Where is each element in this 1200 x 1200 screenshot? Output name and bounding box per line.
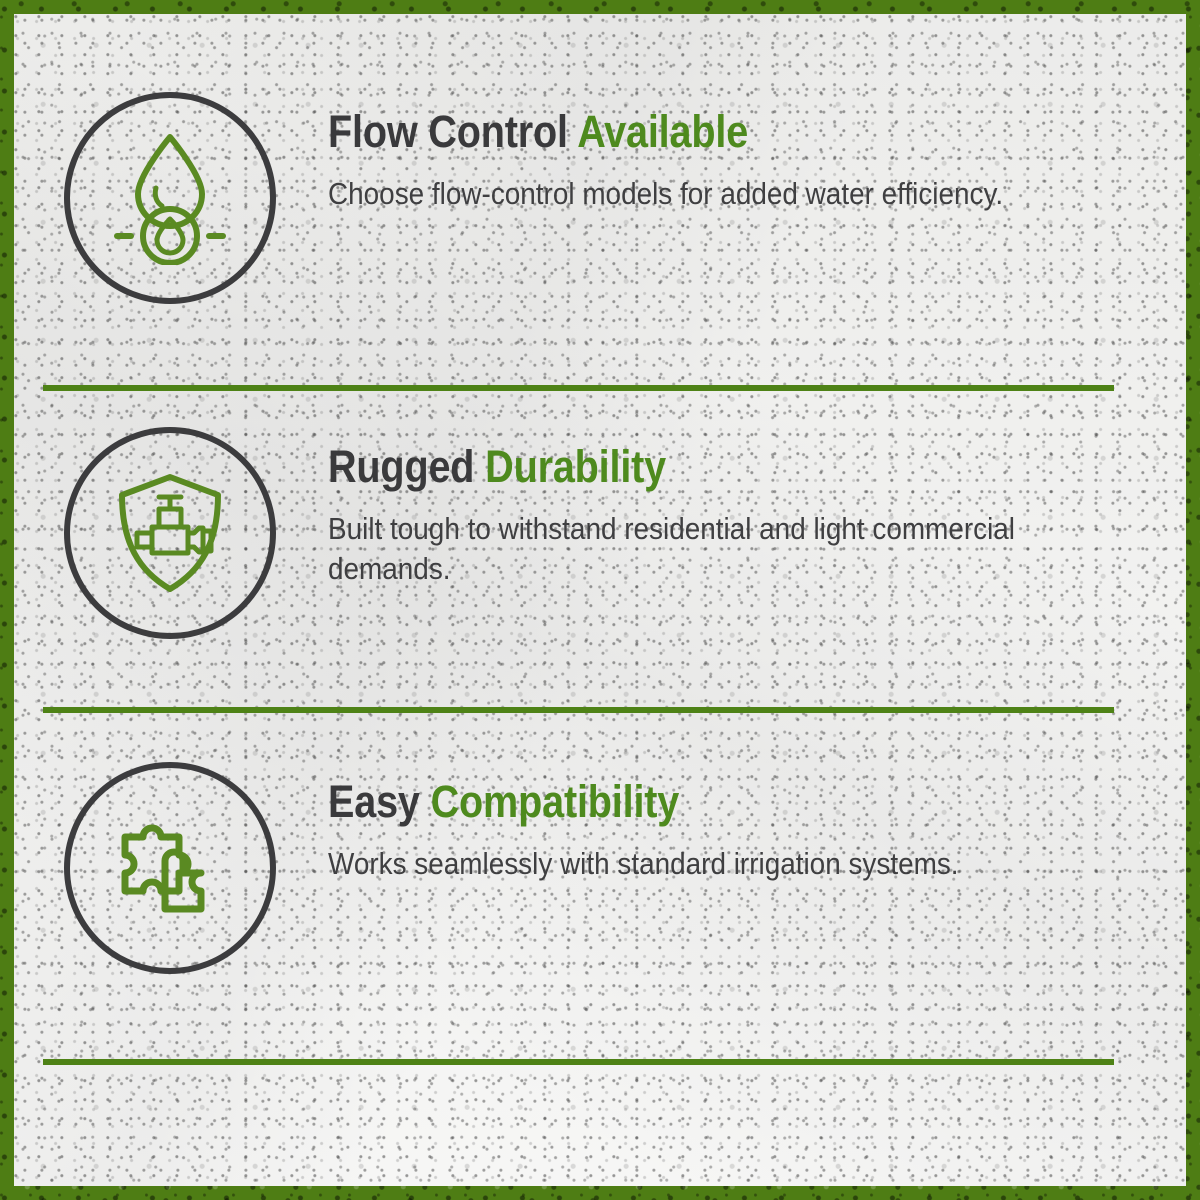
water-drop-flow-control-icon bbox=[111, 131, 229, 265]
feature-text-block: Flow Control Available Choose flow-contr… bbox=[328, 92, 1200, 214]
feature-title-primary: Easy bbox=[328, 776, 431, 827]
feature-title-accent: Durability bbox=[485, 441, 666, 492]
icon-badge-compatibility bbox=[64, 762, 276, 974]
section-divider bbox=[43, 707, 1114, 713]
feature-title: Rugged Durability bbox=[328, 443, 1069, 491]
puzzle-pieces-icon bbox=[109, 807, 231, 929]
feature-row: Flow Control Available Choose flow-contr… bbox=[0, 92, 1200, 304]
icon-badge-flow-control bbox=[64, 92, 276, 304]
feature-text-block: Rugged Durability Built tough to withsta… bbox=[328, 427, 1200, 589]
section-divider bbox=[43, 1059, 1114, 1065]
section-divider bbox=[43, 385, 1114, 391]
feature-title-primary: Flow Control bbox=[328, 106, 577, 157]
feature-row: Easy Compatibility Works seamlessly with… bbox=[0, 762, 1200, 974]
feature-description: Works seamlessly with standard irrigatio… bbox=[328, 844, 1086, 884]
feature-highlights-infographic: Flow Control Available Choose flow-contr… bbox=[0, 0, 1200, 1200]
feature-list: Flow Control Available Choose flow-contr… bbox=[0, 0, 1200, 1200]
feature-title: Flow Control Available bbox=[328, 108, 1069, 156]
feature-text-block: Easy Compatibility Works seamlessly with… bbox=[328, 762, 1200, 884]
feature-description: Built tough to withstand residential and… bbox=[328, 509, 1086, 590]
feature-row: Rugged Durability Built tough to withsta… bbox=[0, 427, 1200, 639]
feature-description: Choose flow-control models for added wat… bbox=[328, 174, 1086, 214]
icon-badge-durability bbox=[64, 427, 276, 639]
feature-title-primary: Rugged bbox=[328, 441, 485, 492]
shield-valve-icon bbox=[111, 471, 229, 595]
feature-title: Easy Compatibility bbox=[328, 778, 1069, 826]
feature-title-accent: Compatibility bbox=[431, 776, 680, 827]
feature-title-accent: Available bbox=[577, 106, 748, 157]
